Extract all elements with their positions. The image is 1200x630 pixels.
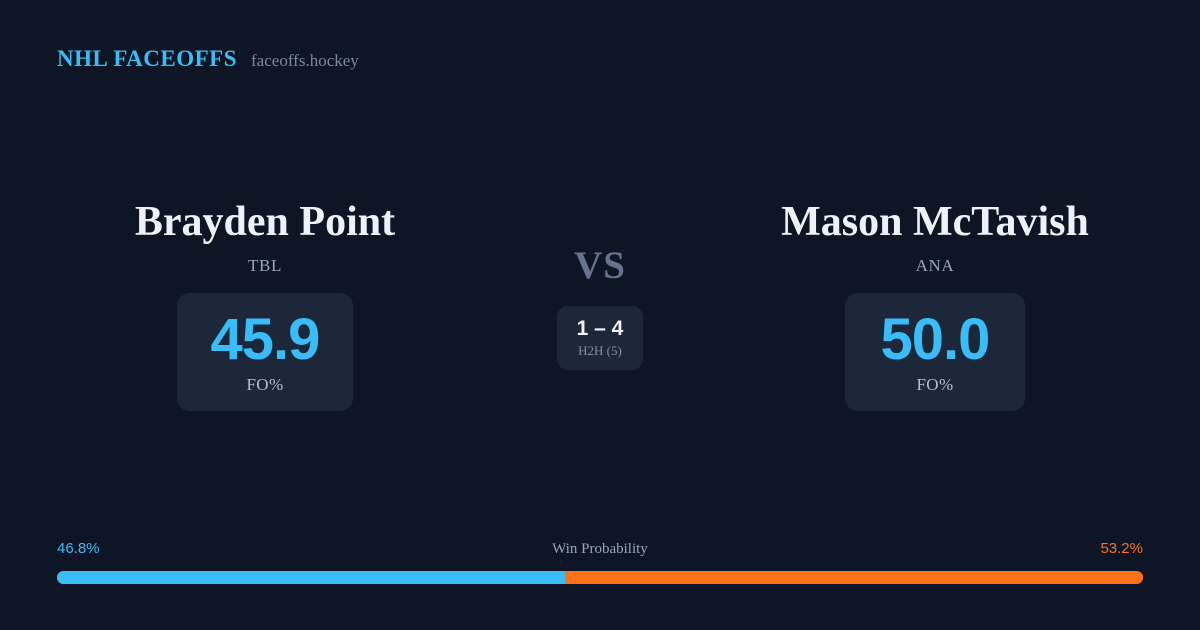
head-to-head-card: 1 – 4 H2H (5) <box>557 306 643 370</box>
win-probability-labels: 46.8% Win Probability 53.2% <box>57 540 1143 562</box>
versus-block: VS 1 – 4 H2H (5) <box>500 196 700 370</box>
player-home-stat-label: FO% <box>246 375 283 395</box>
player-away-team: ANA <box>916 256 955 276</box>
win-probability-section: 46.8% Win Probability 53.2% <box>57 540 1143 584</box>
faceoff-matchup-card: NHL FACEOFFS faceoffs.hockey Brayden Poi… <box>0 0 1200 630</box>
win-probability-bar-home <box>57 571 565 584</box>
player-away-name: Mason McTavish <box>781 196 1089 248</box>
player-away-faceoff-pct: 50.0 <box>881 307 990 373</box>
player-away-stat-label: FO% <box>916 375 953 395</box>
player-home-faceoff-pct: 45.9 <box>211 307 320 373</box>
win-probability-bar <box>57 571 1143 584</box>
player-away: Mason McTavish ANA 50.0 FO% <box>700 196 1170 411</box>
brand-title: NHL FACEOFFS <box>57 46 237 72</box>
win-probability-title: Win Probability <box>57 541 1143 558</box>
win-probability-away-pct: 53.2% <box>1100 540 1143 557</box>
brand-domain: faceoffs.hockey <box>251 51 359 71</box>
site-header: NHL FACEOFFS faceoffs.hockey <box>57 46 359 72</box>
player-home: Brayden Point TBL 45.9 FO% <box>30 196 500 411</box>
player-home-name: Brayden Point <box>135 196 395 248</box>
matchup-row: Brayden Point TBL 45.9 FO% VS 1 – 4 H2H … <box>0 196 1200 411</box>
player-home-stat-card: 45.9 FO% <box>177 293 354 411</box>
player-home-team: TBL <box>248 256 282 276</box>
versus-label: VS <box>574 245 626 287</box>
win-probability-bar-away <box>565 571 1143 584</box>
head-to-head-score: 1 – 4 <box>577 317 624 341</box>
head-to-head-label: H2H (5) <box>578 343 622 359</box>
player-away-stat-card: 50.0 FO% <box>845 293 1025 411</box>
